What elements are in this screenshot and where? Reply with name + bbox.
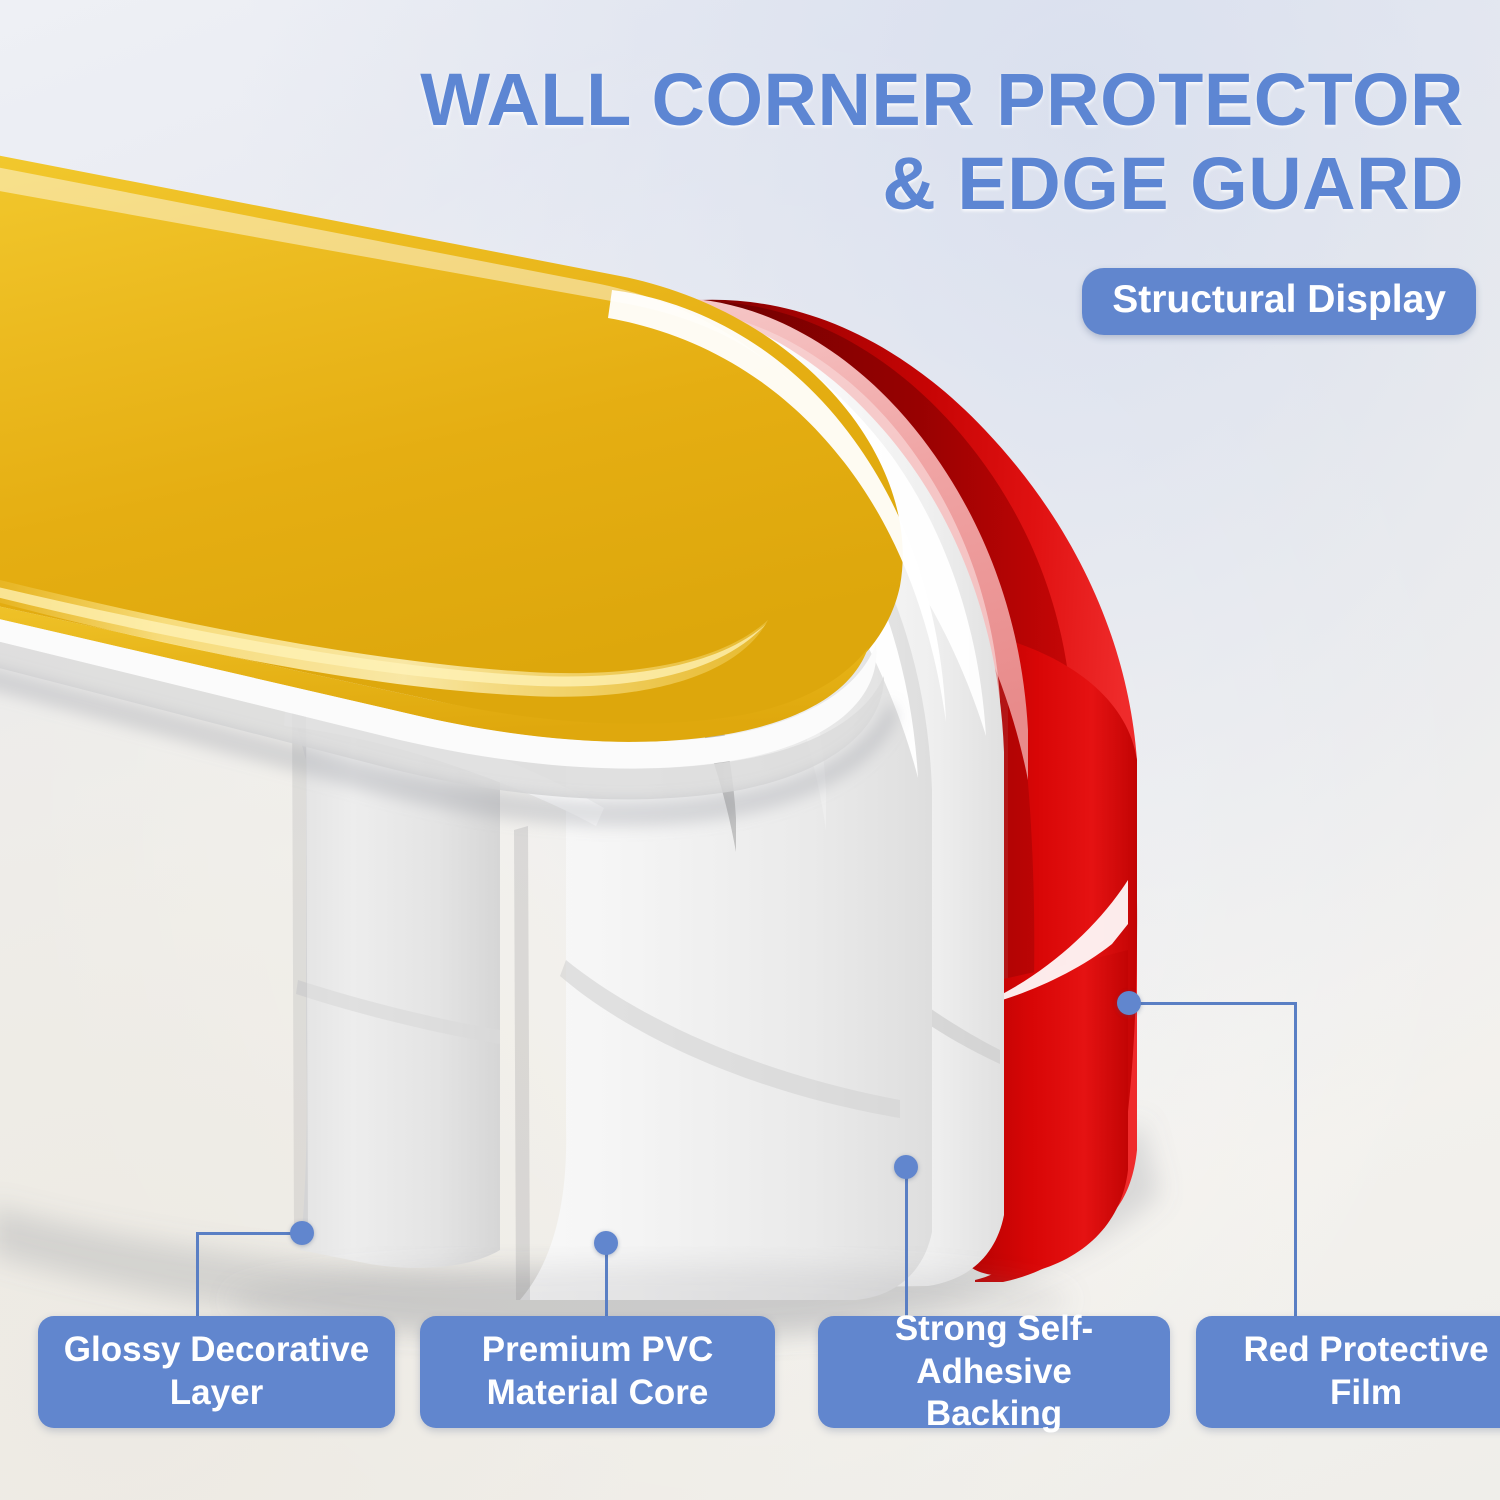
- label-red-protective-film[interactable]: Red Protective Film: [1196, 1316, 1500, 1428]
- label-glossy-decorative-layer[interactable]: Glossy Decorative Layer: [38, 1316, 395, 1428]
- structural-display-badge: Structural Display: [1082, 268, 1476, 335]
- label-3-line-1: Strong Self-Adhesive: [830, 1308, 1158, 1393]
- title-line-1: WALL CORNER PROTECTOR: [0, 58, 1464, 142]
- product-infographic: WALL CORNER PROTECTOR & EDGE GUARD Struc…: [0, 0, 1500, 1500]
- title-line-2: & EDGE GUARD: [0, 142, 1464, 226]
- callout-2-dot[interactable]: [594, 1231, 618, 1255]
- label-3-line-2: Backing: [830, 1393, 1158, 1436]
- callout-1-dot[interactable]: [290, 1221, 314, 1245]
- callout-3-dot[interactable]: [894, 1155, 918, 1179]
- label-2-line-1: Premium PVC: [482, 1329, 713, 1372]
- label-1-line-2: Layer: [64, 1372, 369, 1415]
- label-4-line-1: Red Protective Film: [1208, 1329, 1500, 1414]
- label-1-line-1: Glossy Decorative: [64, 1329, 369, 1372]
- label-premium-pvc-material-core[interactable]: Premium PVC Material Core: [420, 1316, 775, 1428]
- label-2-line-2: Material Core: [482, 1372, 713, 1415]
- page-title: WALL CORNER PROTECTOR & EDGE GUARD: [0, 58, 1464, 227]
- label-strong-self-adhesive-backing[interactable]: Strong Self-Adhesive Backing: [818, 1316, 1170, 1428]
- callout-4-dot[interactable]: [1117, 991, 1141, 1015]
